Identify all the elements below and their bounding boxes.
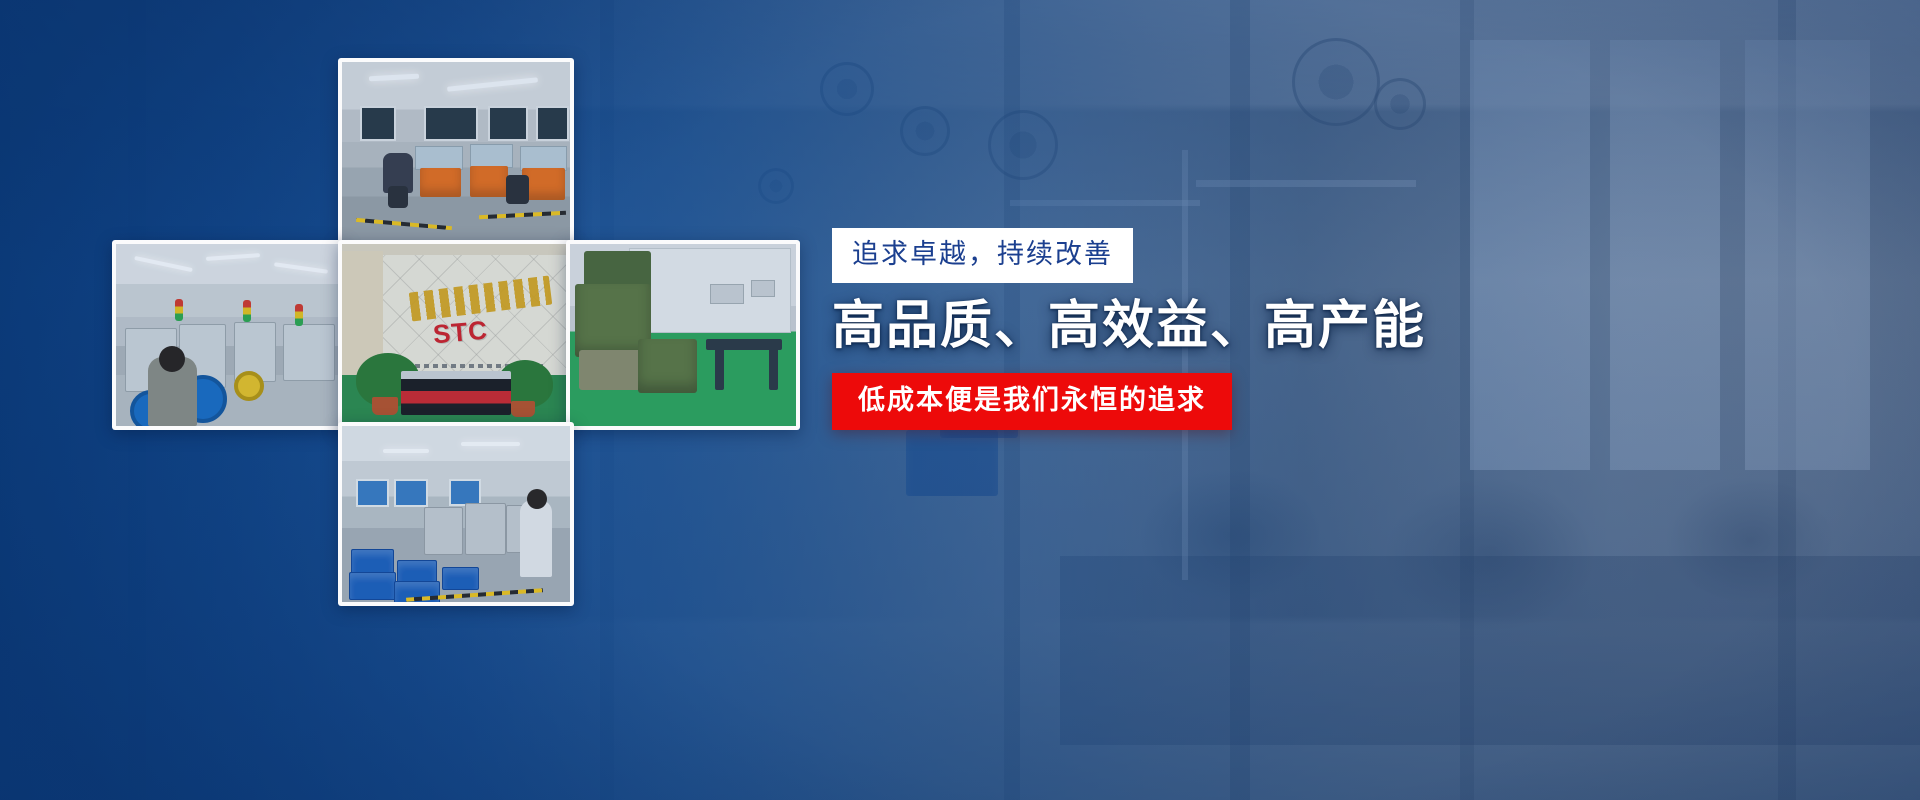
factory-photo-collage: STC [112, 58, 792, 598]
photo-warehouse-crates [342, 426, 570, 602]
banner-text-block: 追求卓越，持续改善 高品质、高效益、高产能 低成本便是我们永恒的追求 [832, 228, 1392, 430]
banner-headline: 高品质、高效益、高产能 [832, 297, 1392, 355]
collage-photo-right[interactable] [566, 240, 800, 430]
photo-production-line [116, 244, 342, 426]
stc-logo: STC [432, 314, 489, 350]
collage-photo-bottom[interactable] [338, 422, 574, 606]
banner-tagline-badge: 低成本便是我们永恒的追求 [832, 373, 1232, 430]
photo-machine-shop [570, 244, 796, 426]
photo-company-reception: STC [342, 244, 570, 426]
banner-eyebrow: 追求卓越，持续改善 [832, 228, 1133, 283]
hero-banner: STC [0, 0, 1920, 800]
collage-photo-center[interactable]: STC [338, 240, 574, 430]
photo-office-workshop [342, 62, 570, 244]
collage-photo-top[interactable] [338, 58, 574, 248]
collage-photo-left[interactable] [112, 240, 346, 430]
